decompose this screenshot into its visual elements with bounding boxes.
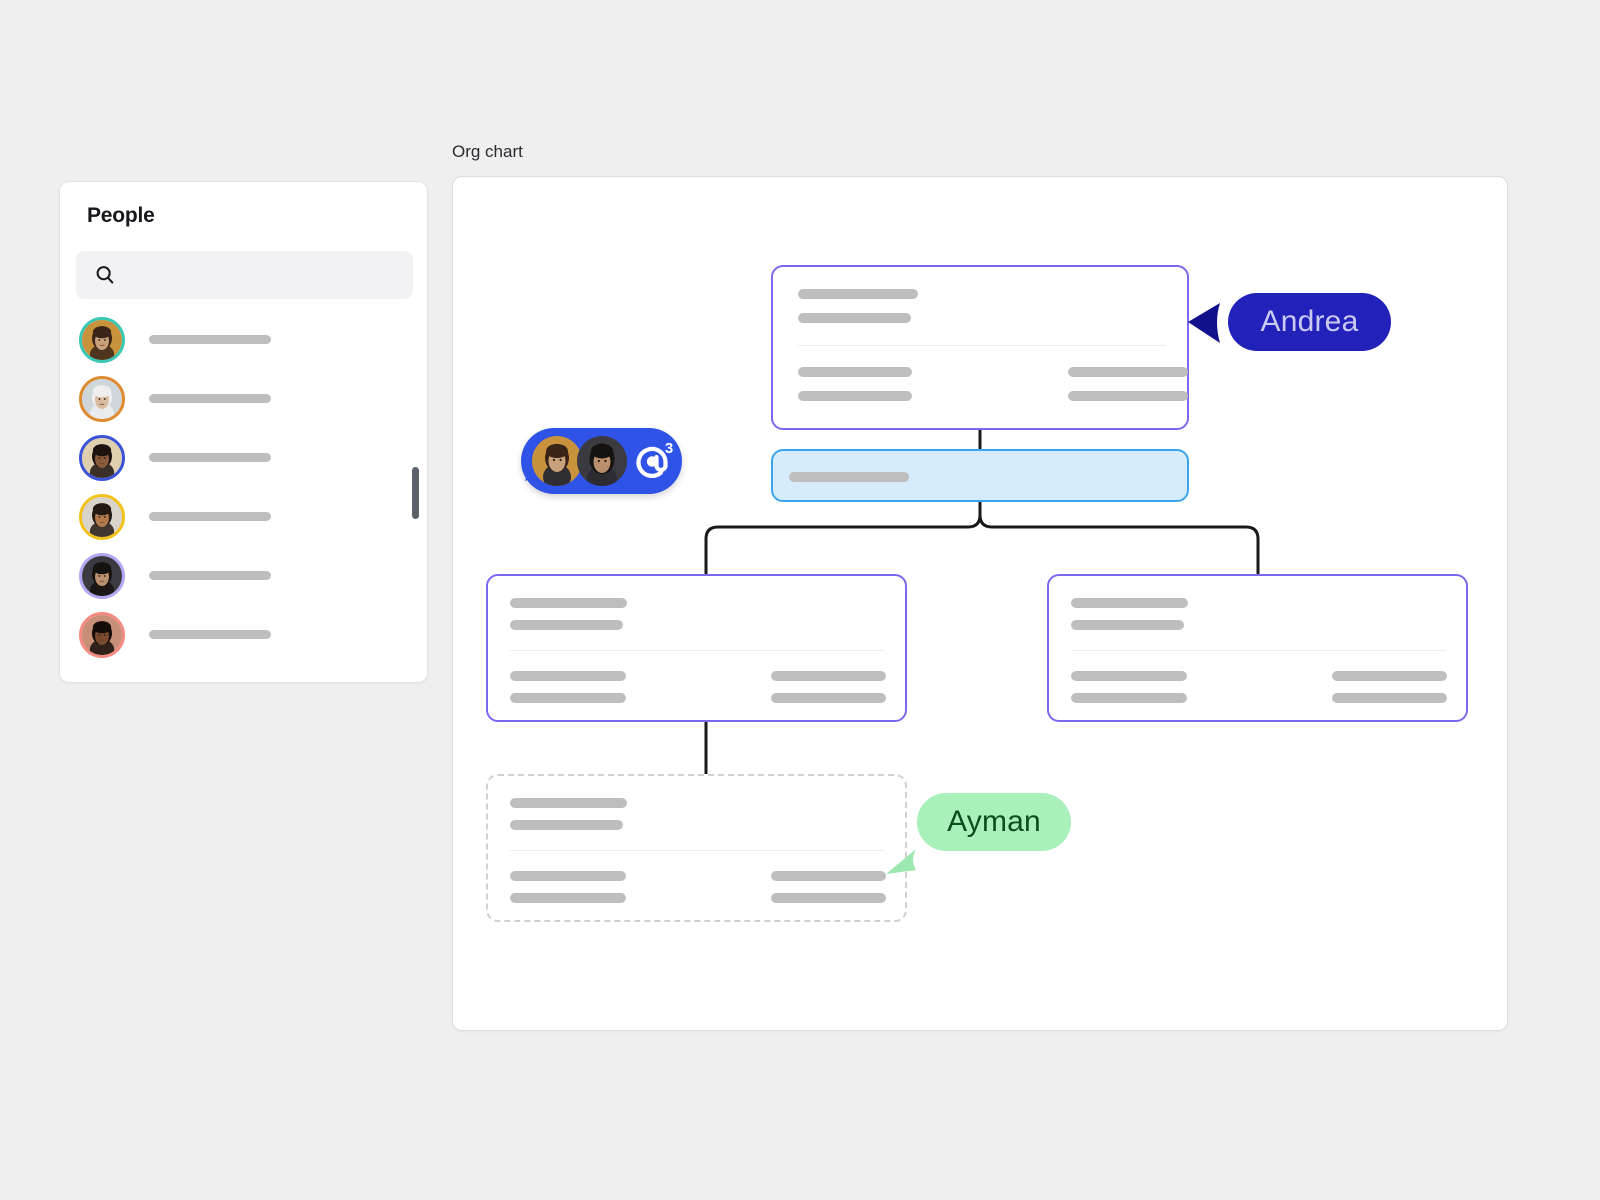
org-node-grandchild-placeholder[interactable]	[486, 774, 907, 922]
avatar	[79, 612, 125, 658]
presence-avatar	[532, 436, 582, 486]
node-field-placeholder	[510, 820, 623, 830]
person-name-placeholder	[149, 630, 271, 639]
node-field-placeholder	[789, 472, 909, 482]
org-node-root[interactable]	[771, 265, 1189, 430]
node-field-placeholder	[798, 367, 912, 377]
search-input[interactable]	[126, 251, 406, 299]
cursor-pointer-ayman	[880, 846, 920, 886]
list-item[interactable]	[60, 492, 428, 551]
node-field-placeholder	[510, 893, 626, 903]
person-name-placeholder	[149, 512, 271, 521]
node-field-placeholder	[771, 671, 886, 681]
avatar	[79, 553, 125, 599]
list-item[interactable]	[60, 315, 428, 374]
at-mention-icon: 3	[631, 440, 679, 484]
node-field-placeholder	[510, 693, 626, 703]
node-field-placeholder	[510, 798, 627, 808]
list-item[interactable]	[60, 433, 428, 492]
avatar	[79, 494, 125, 540]
search-icon	[94, 264, 116, 286]
node-field-placeholder	[771, 871, 886, 881]
people-list-scrollbar[interactable]	[413, 315, 423, 675]
node-field-placeholder	[510, 598, 627, 608]
node-field-placeholder	[1068, 391, 1188, 401]
node-divider	[1071, 650, 1446, 651]
node-field-placeholder	[798, 289, 918, 299]
node-field-placeholder	[771, 893, 886, 903]
node-field-placeholder	[1068, 367, 1188, 377]
person-name-placeholder	[149, 394, 271, 403]
people-panel-title: People	[87, 204, 155, 228]
node-field-placeholder	[798, 313, 911, 323]
org-chart-label: Org chart	[452, 142, 523, 162]
list-item[interactable]	[60, 374, 428, 433]
org-node-child-left[interactable]	[486, 574, 907, 722]
presence-avatar	[577, 436, 627, 486]
cursor-label-ayman: Ayman	[917, 793, 1071, 851]
org-node-child-right[interactable]	[1047, 574, 1468, 722]
node-field-placeholder	[1071, 620, 1184, 630]
node-field-placeholder	[510, 871, 626, 881]
person-name-placeholder	[149, 571, 271, 580]
people-panel: People	[59, 181, 428, 683]
people-list[interactable]	[60, 315, 428, 683]
node-field-placeholder	[510, 620, 623, 630]
avatar	[79, 376, 125, 422]
avatar	[79, 317, 125, 363]
list-item[interactable]	[60, 551, 428, 610]
node-field-placeholder	[798, 391, 912, 401]
node-field-placeholder	[1332, 693, 1447, 703]
node-field-placeholder	[771, 693, 886, 703]
node-divider	[510, 650, 885, 651]
node-field-placeholder	[1071, 693, 1187, 703]
person-name-placeholder	[149, 453, 271, 462]
scrollbar-thumb[interactable]	[412, 467, 419, 519]
node-field-placeholder	[1332, 671, 1447, 681]
presence-count: 3	[665, 440, 673, 457]
node-field-placeholder	[510, 671, 626, 681]
cursor-pointer-andrea	[1182, 300, 1224, 346]
node-field-placeholder	[1071, 598, 1188, 608]
org-node-highlighted[interactable]	[771, 449, 1189, 502]
app-root: People Org chart	[0, 0, 1600, 1200]
avatar	[79, 435, 125, 481]
node-divider	[798, 345, 1166, 346]
presence-indicator[interactable]: 3	[521, 428, 682, 500]
cursor-label-andrea: Andrea	[1228, 293, 1391, 351]
person-name-placeholder	[149, 335, 271, 344]
node-divider	[510, 850, 885, 851]
node-field-placeholder	[1071, 671, 1187, 681]
list-item[interactable]	[60, 610, 428, 669]
search-field[interactable]	[76, 251, 413, 299]
